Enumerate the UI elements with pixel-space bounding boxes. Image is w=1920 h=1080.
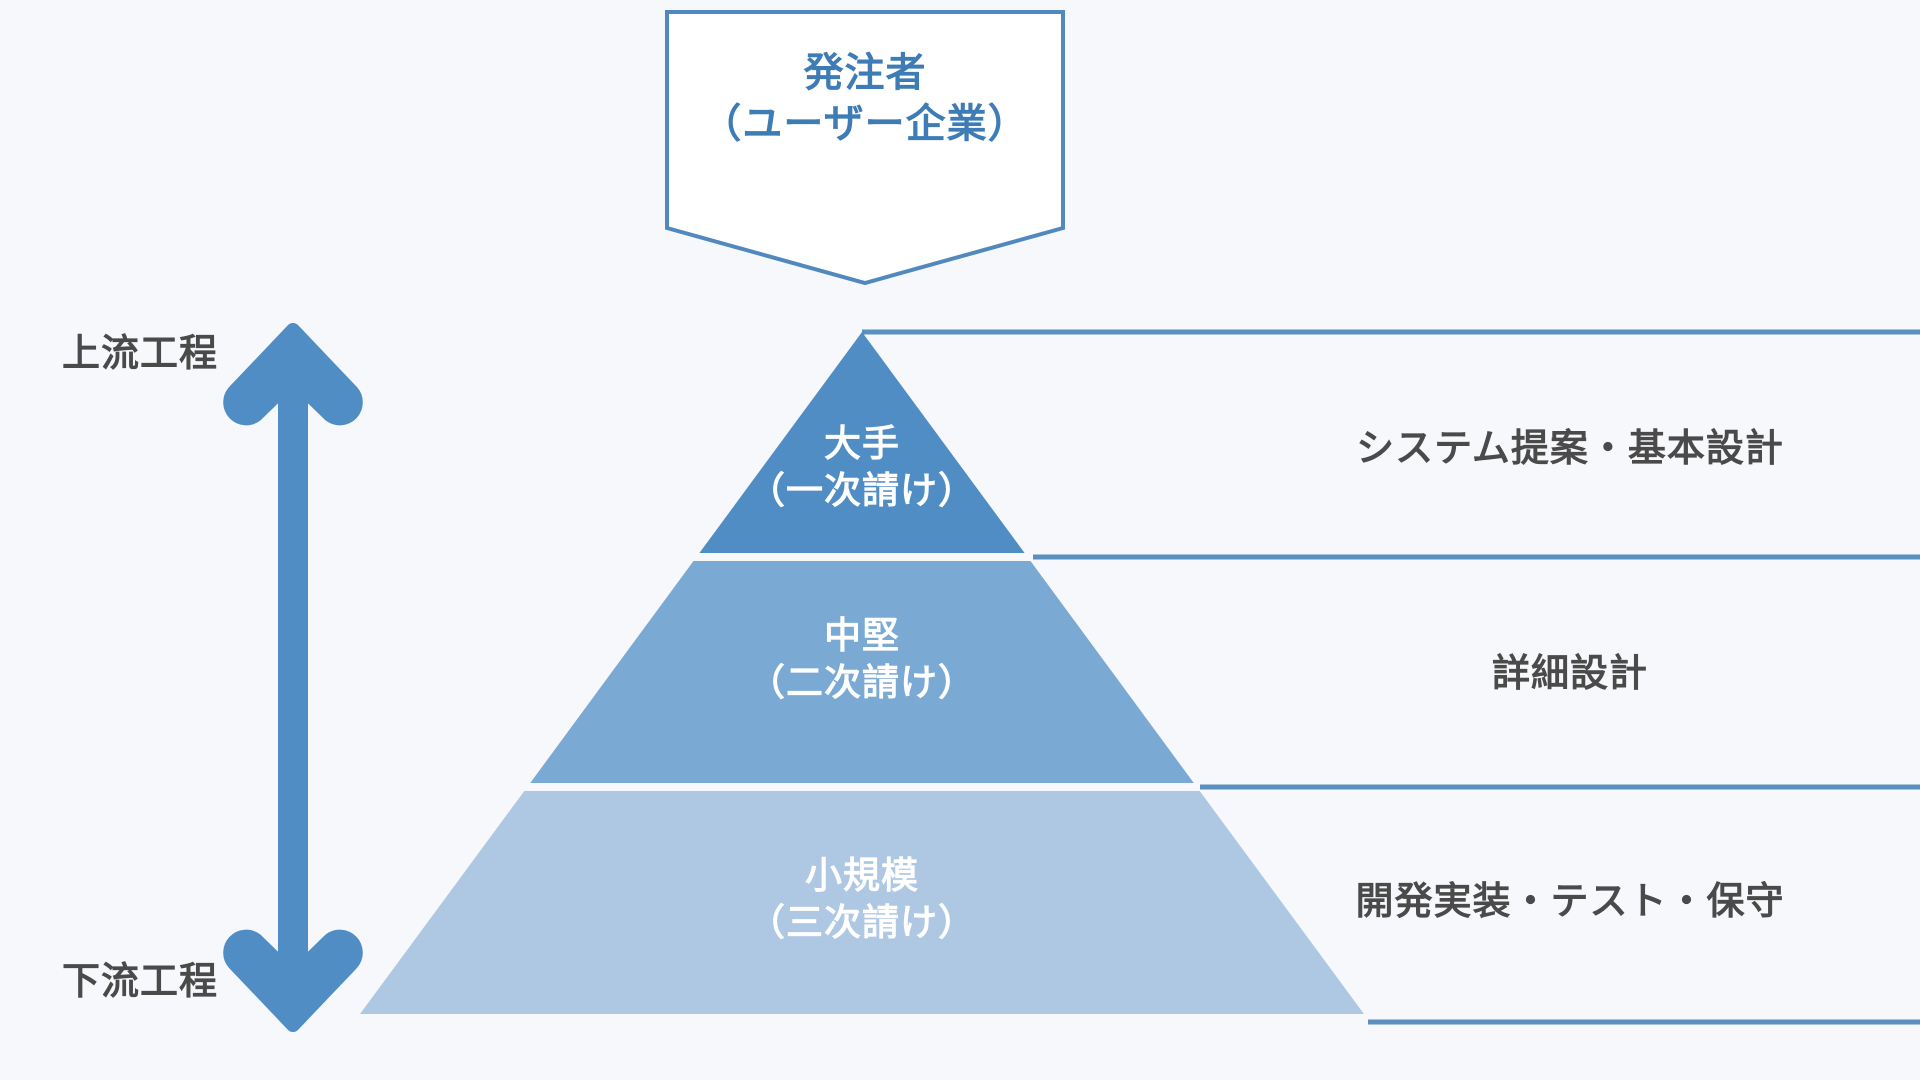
pyramid-tier-label-secondary: 中堅 （二次請け） xyxy=(642,612,1082,707)
axis-label-downstream: 下流工程 xyxy=(62,958,292,1007)
arrow-shaft xyxy=(278,345,308,1000)
phase-label-upper: システム提案・基本設計 xyxy=(1240,425,1900,474)
pyramid-tier-label-prime: 大手 （一次請け） xyxy=(642,420,1082,515)
pyramid-tier-label-tertiary: 小規模 （三次請け） xyxy=(642,852,1082,947)
diagram-canvas: 発注者 （ユーザー企業） 大手 （一次請け） 中堅 （二次請け） 小規模 （三次… xyxy=(0,0,1920,1080)
phase-label-middle: 詳細設計 xyxy=(1240,650,1900,699)
client-box-label: 発注者 （ユーザー企業） xyxy=(665,48,1065,150)
axis-label-upstream: 上流工程 xyxy=(62,330,292,379)
phase-label-lower: 開発実装・テスト・保守 xyxy=(1240,878,1900,927)
